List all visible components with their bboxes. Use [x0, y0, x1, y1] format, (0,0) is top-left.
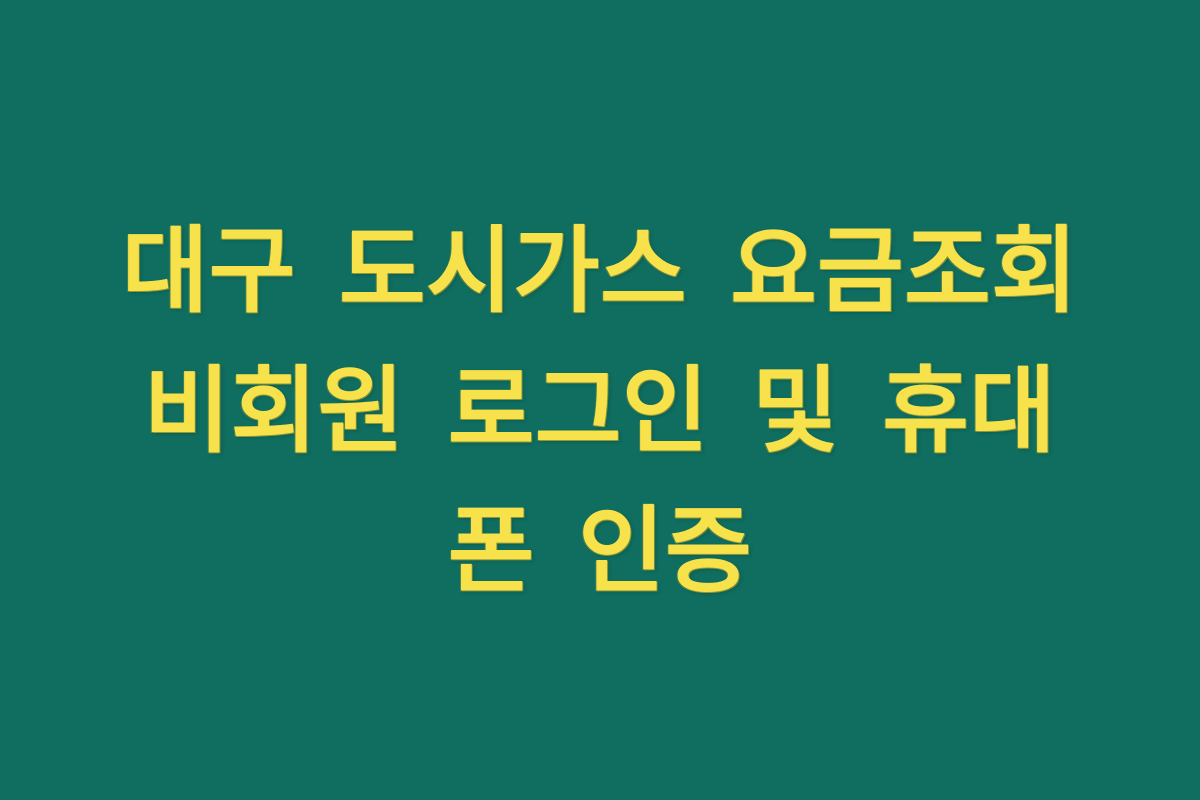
poster-canvas: 대구 도시가스 요금조회 비회원 로그인 및 휴대 폰 인증: [0, 0, 1200, 800]
headline-line-2: 비회원 로그인 및 휴대: [70, 342, 1130, 482]
headline-line-3: 폰 인증: [70, 482, 1130, 622]
headline-line-1: 대구 도시가스 요금조회: [70, 202, 1130, 342]
headline-block: 대구 도시가스 요금조회 비회원 로그인 및 휴대 폰 인증: [70, 202, 1130, 622]
